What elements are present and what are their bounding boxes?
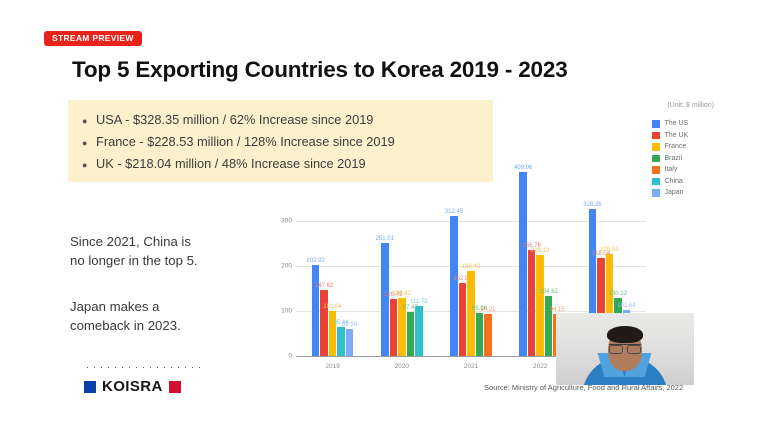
- bar-group-2020: 251.01126.45128.4297.47111.732020: [367, 208, 436, 356]
- bar-the-us-2021[interactable]: 312.45: [450, 216, 458, 356]
- bar-china-2020[interactable]: 111.73: [415, 306, 423, 356]
- y-axis-tick: 0: [274, 353, 292, 360]
- bar-brazil-2022[interactable]: 134.62: [545, 296, 553, 356]
- x-axis-tick: 2019: [325, 363, 339, 370]
- slide-canvas: STREAM PREVIEW Top 5 Exporting Countries…: [0, 0, 768, 432]
- legend-item-the-us[interactable]: The US: [652, 118, 720, 130]
- webcam-overlay[interactable]: [556, 313, 694, 385]
- bar-the-us-2020[interactable]: 251.01: [381, 243, 389, 356]
- x-axis-tick: 2022: [533, 363, 547, 370]
- legend-label: The US: [665, 120, 689, 127]
- note-china: Since 2021, China isno longer in the top…: [70, 232, 198, 270]
- x-axis-tick: 2020: [395, 363, 409, 370]
- bar-the-uk-2021[interactable]: 162.94: [459, 283, 467, 356]
- bullet-icon: ●: [82, 117, 96, 126]
- legend-item-italy[interactable]: Italy: [652, 164, 720, 176]
- legend-label: France: [665, 143, 687, 150]
- legend-label: Brazil: [665, 155, 683, 162]
- legend-label: Japan: [665, 189, 684, 196]
- webcam-person-hair: [607, 326, 643, 343]
- legend-label: Italy: [665, 166, 678, 173]
- bar-value-label: 226.13: [531, 248, 549, 254]
- bar-the-uk-2020[interactable]: 126.45: [390, 299, 398, 356]
- bar-value-label: 202.92: [306, 258, 324, 264]
- bar-value-label: 328.35: [583, 202, 601, 208]
- koisra-logo: KOISRA: [84, 378, 181, 395]
- y-axis-tick: 100: [274, 308, 292, 315]
- dotted-divider: [84, 366, 202, 369]
- bar-brazil-2021[interactable]: 95.96: [476, 313, 484, 356]
- legend-swatch-icon: [652, 132, 660, 140]
- bar-france-2022[interactable]: 226.13: [536, 255, 544, 356]
- bullet-icon: ●: [82, 161, 96, 170]
- logo-square-blue: [84, 381, 96, 393]
- logo-wordmark: KOISRA: [102, 378, 163, 395]
- legend-swatch-icon: [652, 120, 660, 128]
- bar-value-label: 312.45: [445, 209, 463, 215]
- y-axis-tick: 300: [274, 218, 292, 225]
- x-axis-tick: 2021: [464, 363, 478, 370]
- bar-italy-2021[interactable]: 94.21: [484, 314, 492, 356]
- legend-label: The UK: [665, 132, 689, 139]
- bar-japan-2019[interactable]: 59.59: [346, 329, 354, 356]
- bar-france-2021[interactable]: 188.48: [467, 271, 475, 356]
- bar-value-label: 188.48: [462, 264, 480, 270]
- page-title: Top 5 Exporting Countries to Korea 2019 …: [72, 57, 568, 83]
- bar-value-label: 59.59: [342, 322, 357, 328]
- bar-the-us-2022[interactable]: 409.96: [519, 172, 527, 356]
- y-axis-tick: 200: [274, 263, 292, 270]
- bar-value-label: 147.62: [315, 283, 333, 289]
- bar-value-label: 94.15: [550, 307, 565, 313]
- legend-item-china[interactable]: China: [652, 176, 720, 188]
- chart-legend: The USThe UKFranceBrazilItalyChinaJapan: [652, 118, 720, 199]
- legend-item-brazil[interactable]: Brazil: [652, 153, 720, 165]
- bar-value-label: 134.62: [540, 289, 558, 295]
- logo-square-red: [169, 381, 181, 393]
- bar-group-2021: 312.45162.94188.4895.9694.212021: [436, 208, 505, 356]
- legend-swatch-icon: [652, 189, 660, 197]
- bar-france-2019[interactable]: 101.04: [329, 311, 337, 356]
- legend-item-japan[interactable]: Japan: [652, 187, 720, 199]
- legend-item-the-uk[interactable]: The UK: [652, 130, 720, 142]
- bar-value-label: 94.21: [480, 307, 495, 313]
- bar-value-label: 102.64: [617, 303, 635, 309]
- legend-swatch-icon: [652, 178, 660, 186]
- bar-value-label: 251.01: [376, 236, 394, 242]
- bar-value-label: 228.53: [600, 247, 618, 253]
- bar-value-label: 130.12: [609, 291, 627, 297]
- bar-the-us-2019[interactable]: 202.92: [312, 265, 320, 356]
- bar-value-label: 111.73: [410, 299, 427, 305]
- bar-value-label: 101.04: [323, 304, 341, 310]
- legend-swatch-icon: [652, 155, 660, 163]
- bar-china-2019[interactable]: 65.44: [337, 327, 345, 356]
- legend-swatch-icon: [652, 143, 660, 151]
- legend-swatch-icon: [652, 166, 660, 174]
- chart-unit-label: (Unit: $ million): [667, 102, 714, 109]
- legend-label: China: [665, 178, 683, 185]
- bar-group-2019: 202.92147.62101.0465.4459.592019: [298, 208, 367, 356]
- legend-item-france[interactable]: France: [652, 141, 720, 153]
- stream-preview-badge: STREAM PREVIEW: [44, 31, 142, 46]
- bar-the-uk-2022[interactable]: 236.76: [528, 250, 536, 356]
- bullet-icon: ●: [82, 139, 96, 148]
- note-japan: Japan makes acomeback in 2023.: [70, 297, 181, 335]
- bar-value-label: 128.42: [393, 291, 411, 297]
- bar-brazil-2020[interactable]: 97.47: [407, 312, 415, 356]
- bar-value-label: 409.96: [514, 165, 532, 171]
- webcam-person-glasses: [609, 344, 641, 351]
- bar-the-uk-2019[interactable]: 147.62: [320, 290, 328, 356]
